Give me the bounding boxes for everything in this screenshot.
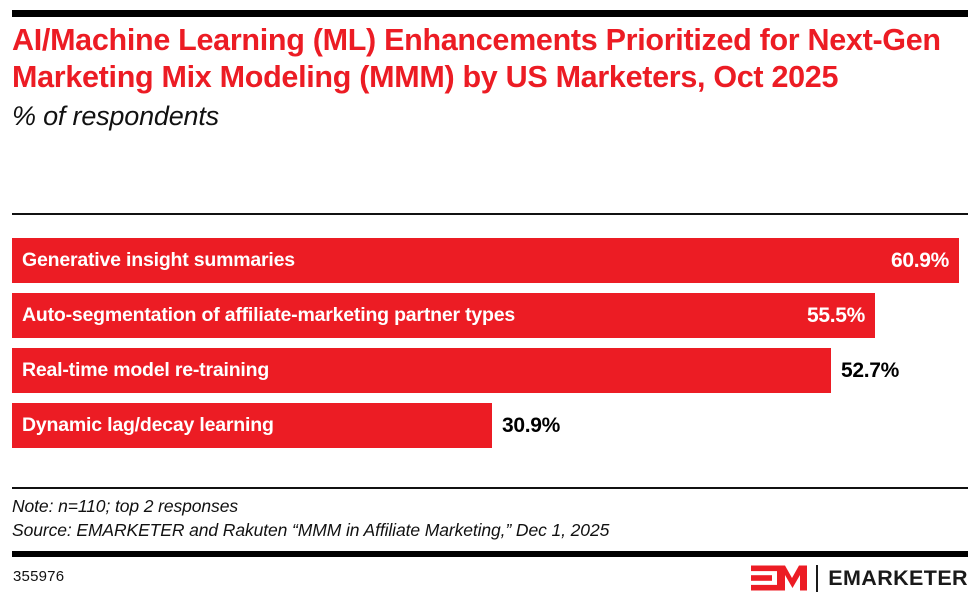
top-rule-divider [12,10,968,17]
chart-title: AI/Machine Learning (ML) Enhancements Pr… [12,22,962,96]
logo-divider [816,565,818,592]
bar-value: 52.7% [841,348,899,393]
chart-card: AI/Machine Learning (ML) Enhancements Pr… [0,0,980,608]
bar-row: Auto-segmentation of affiliate-marketing… [12,293,968,338]
chart-id: 355976 [13,568,64,585]
bar-row: Dynamic lag/decay learning 30.9% [12,403,968,448]
bar-value: 55.5% [807,293,865,338]
note-text: Note: n=110; top 2 responses [12,494,962,518]
bar-row: Generative insight summaries 60.9% [12,238,968,283]
em-monogram-icon [751,564,807,592]
bottom-rule-divider [12,551,968,557]
footnote-rule-divider [12,487,968,489]
bar-chart-plot-area: Generative insight summaries 60.9% Auto-… [12,238,968,450]
header-rule-divider [12,213,968,215]
bar-label: Dynamic lag/decay learning [22,403,274,448]
chart-header: AI/Machine Learning (ML) Enhancements Pr… [12,22,962,132]
bar-value: 60.9% [891,238,949,283]
bar-row: Real-time model re-training 52.7% [12,348,968,393]
brand-wordmark: EMARKETER [828,566,968,591]
chart-subtitle: % of respondents [12,100,962,132]
bar-label: Generative insight summaries [22,238,295,283]
bar-label: Auto-segmentation of affiliate-marketing… [22,293,515,338]
bar-value: 30.9% [502,403,560,448]
bar-label: Real-time model re-training [22,348,269,393]
emarketer-logo: EMARKETER [751,563,968,593]
source-text: Source: EMARKETER and Rakuten “MMM in Af… [12,518,962,542]
footnotes: Note: n=110; top 2 responses Source: EMA… [12,494,962,542]
